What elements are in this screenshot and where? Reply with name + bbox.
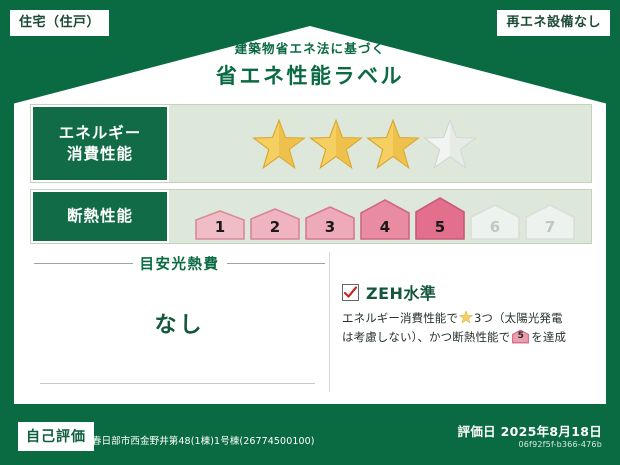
zeh-desc-part2: は考慮しない）、かつ断熱性能で (342, 330, 510, 344)
title-subtitle: 建築物省エネ法に基づく (0, 38, 620, 57)
evaluation-date-value: 2025年8月18日 (501, 424, 602, 439)
zeh-desc-star-count: 3つ（太陽光発電 (474, 311, 563, 325)
inline-insulation-badge: 5 (512, 329, 529, 344)
energy-label-line1: エネルギー (59, 123, 142, 144)
star-icon-empty-4 (423, 118, 477, 170)
insulation-step-5: 5 (414, 197, 466, 240)
energy-label-line2: 消費性能 (67, 144, 133, 165)
insulation-performance-label-box: 断熱性能 (31, 190, 169, 243)
self-evaluation-badge: 自己評価 (18, 422, 94, 451)
insulation-step-label-2: 2 (249, 218, 301, 236)
insulation-step-7: 7 (524, 204, 576, 240)
zeh-title: ZEH水準 (366, 280, 436, 304)
divider-left (34, 263, 133, 264)
zeh-checkbox[interactable] (342, 284, 359, 301)
document-id: 06f92f5f-b366-476b (518, 440, 602, 449)
zeh-desc-part3: を達成 (531, 330, 566, 344)
evaluation-date: 評価日 2025年8月18日 (458, 421, 602, 440)
evaluation-date-label: 評価日 (458, 424, 496, 439)
energy-performance-label: 住宅（住戸） 再エネ設備なし 建築物省エネ法に基づく 省エネ性能ラベル エネルギ… (0, 0, 620, 465)
cost-footer-divider (40, 383, 315, 384)
star-icon-filled-1 (252, 118, 306, 170)
label-title-block: 建築物省エネ法に基づく 省エネ性能ラベル (0, 38, 620, 90)
estimated-utility-cost-box: 目安光熱費 なし (30, 252, 330, 392)
insulation-step-label-7: 7 (524, 218, 576, 236)
insulation-step-label-6: 6 (469, 218, 521, 236)
insulation-performance-row: 断熱性能 1 2 (30, 189, 592, 244)
insulation-step-2: 2 (249, 208, 301, 240)
estimated-cost-header: 目安光熱費 (30, 253, 329, 274)
energy-performance-value (169, 105, 591, 182)
estimated-cost-title: 目安光熱費 (140, 253, 220, 274)
check-icon (344, 286, 357, 299)
lower-section: 目安光熱費 なし ZEH水準 エネルギー消費性能で3つ（太陽光発電は考慮しない）… (30, 252, 592, 392)
zeh-header: ZEH水準 (342, 280, 586, 304)
inline-insulation-badge-value: 5 (512, 329, 529, 344)
insulation-label-line1: 断熱性能 (67, 206, 133, 227)
energy-performance-label-box: エネルギー 消費性能 (31, 105, 169, 182)
inline-star-icon (459, 310, 473, 324)
divider-right (227, 263, 326, 264)
estimated-cost-value: なし (30, 307, 329, 339)
insulation-step-1: 1 (194, 210, 246, 240)
insulation-step-6: 6 (469, 204, 521, 240)
building-type-badge: 住宅（住戸） (10, 10, 109, 36)
insulation-scale: 1 2 3 (194, 194, 576, 240)
insulation-performance-value: 1 2 3 (169, 190, 591, 243)
insulation-step-label-3: 3 (304, 218, 356, 236)
property-address: 春日部市西金野井第48(1棟)1号棟(26774500100) (92, 433, 315, 447)
insulation-step-label-5: 5 (414, 218, 466, 236)
insulation-step-label-1: 1 (194, 218, 246, 236)
star-icon-filled-2 (309, 118, 363, 170)
zeh-description: エネルギー消費性能で3つ（太陽光発電は考慮しない）、かつ断熱性能で5を達成 (342, 309, 586, 347)
star-rating (252, 118, 477, 170)
label-footer: 自己評価 春日部市西金野井第48(1棟)1号棟(26774500100) 評価日… (0, 408, 620, 465)
page-title: 省エネ性能ラベル (0, 60, 620, 90)
insulation-step-3: 3 (304, 206, 356, 240)
renewable-energy-badge: 再エネ設備なし (497, 10, 610, 36)
insulation-step-4: 4 (359, 199, 411, 240)
insulation-step-label-4: 4 (359, 218, 411, 236)
zeh-standard-box: ZEH水準 エネルギー消費性能で3つ（太陽光発電は考慮しない）、かつ断熱性能で5… (330, 252, 592, 392)
star-icon-filled-3 (366, 118, 420, 170)
ratings-panel: エネルギー 消費性能 (30, 104, 592, 244)
energy-performance-row: エネルギー 消費性能 (30, 104, 592, 183)
zeh-desc-part1: エネルギー消費性能で (342, 311, 458, 325)
